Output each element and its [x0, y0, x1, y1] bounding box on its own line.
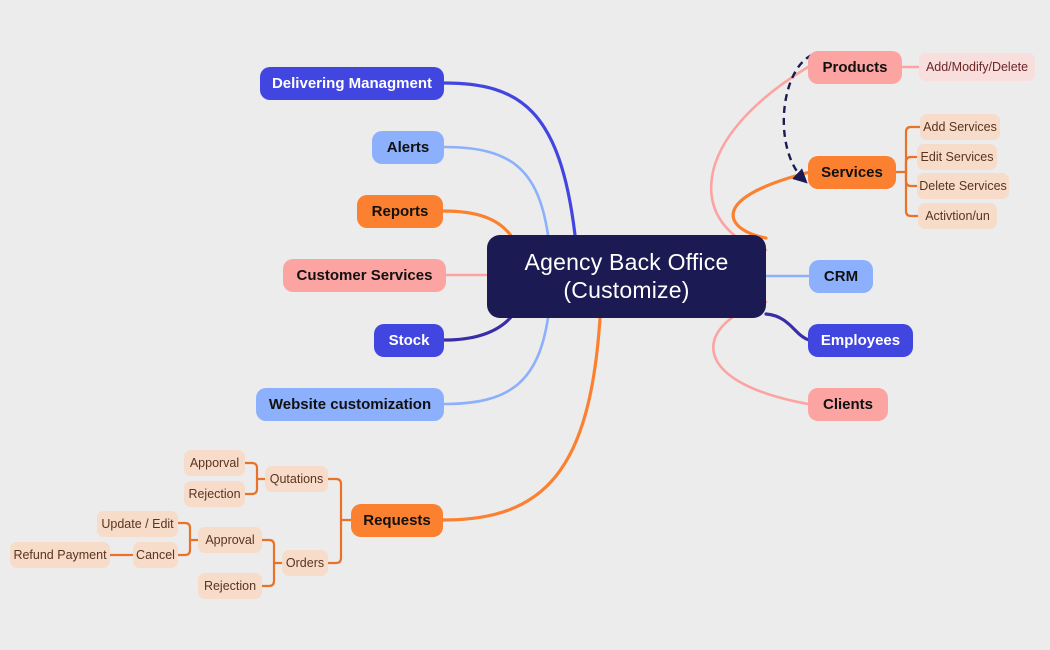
edge-employees [766, 314, 809, 340]
edge-services-delete [906, 172, 917, 186]
subnode-qutations-apporval[interactable]: Apporval [184, 450, 245, 476]
subnode-label: Add/Modify/Delete [926, 60, 1028, 75]
subnode-label: Refund Payment [13, 548, 106, 563]
node-label: Customer Services [297, 267, 433, 285]
subnode-delete-services[interactable]: Delete Services [917, 173, 1009, 199]
subnode-orders-rejection[interactable]: Rejection [198, 573, 262, 599]
root-title-line1: Agency Back Office [525, 249, 729, 276]
node-label: Clients [823, 396, 873, 414]
edge-orders-approval [262, 540, 274, 563]
subnode-label: Apporval [190, 456, 239, 471]
subnode-orders[interactable]: Orders [282, 550, 328, 576]
root-title-line2: (Customize) [563, 277, 689, 304]
edge-requests-orders [328, 520, 341, 563]
subnode-cancel[interactable]: Cancel [133, 542, 178, 568]
edge-requests [443, 318, 600, 520]
node-requests[interactable]: Requests [351, 504, 443, 537]
subnode-activation-un[interactable]: Activtion/un [918, 203, 997, 229]
node-label: Stock [389, 332, 430, 350]
node-delivering-managment[interactable]: Delivering Managment [260, 67, 444, 100]
root-node[interactable]: Agency Back Office (Customize) [487, 235, 766, 318]
subnode-refund-payment[interactable]: Refund Payment [10, 542, 110, 568]
subnode-label: Activtion/un [925, 209, 990, 224]
node-label: Requests [363, 512, 431, 530]
node-employees[interactable]: Employees [808, 324, 913, 357]
node-label: Alerts [387, 139, 430, 157]
edge-stock [444, 316, 512, 340]
subnode-label: Approval [205, 533, 254, 548]
node-crm[interactable]: CRM [809, 260, 873, 293]
node-label: Delivering Managment [272, 75, 432, 93]
subnode-edit-services[interactable]: Edit Services [917, 144, 997, 170]
node-alerts[interactable]: Alerts [372, 131, 444, 164]
edge-delivering-managment [444, 83, 575, 235]
edge-approval-cancel [178, 540, 190, 555]
subnode-label: Edit Services [921, 150, 994, 165]
edge-services [733, 172, 810, 238]
edge-orders-rejection [262, 563, 274, 586]
node-customer-services[interactable]: Customer Services [283, 259, 446, 292]
subnode-label: Qutations [270, 472, 324, 487]
node-label: Website customization [269, 396, 431, 414]
subnode-add-services[interactable]: Add Services [920, 114, 1000, 140]
node-label: Products [822, 59, 887, 77]
edge-services-edit [906, 157, 917, 172]
node-stock[interactable]: Stock [374, 324, 444, 357]
subnode-orders-approval[interactable]: Approval [198, 527, 262, 553]
subnode-label: Add Services [923, 120, 997, 135]
node-label: Services [821, 164, 883, 182]
subnode-label: Delete Services [919, 179, 1007, 194]
node-website-customization[interactable]: Website customization [256, 388, 444, 421]
node-services[interactable]: Services [808, 156, 896, 189]
subnode-label: Cancel [136, 548, 175, 563]
edge-website-customization [444, 318, 548, 404]
edge-requests-qutations [328, 479, 341, 520]
node-reports[interactable]: Reports [357, 195, 443, 228]
mindmap-canvas: Agency Back Office (Customize) Deliverin… [0, 0, 1050, 650]
subnode-label: Rejection [204, 579, 256, 594]
subnode-label: Orders [286, 556, 324, 571]
subnode-update-edit[interactable]: Update / Edit [97, 511, 178, 537]
node-label: CRM [824, 268, 858, 286]
node-clients[interactable]: Clients [808, 388, 888, 421]
edge-qutations-rejection [245, 479, 257, 494]
subnode-label: Update / Edit [101, 517, 173, 532]
edge-qutations-apporval [245, 463, 257, 479]
subnode-label: Rejection [188, 487, 240, 502]
subnode-qutations-rejection[interactable]: Rejection [184, 481, 245, 507]
node-label: Reports [372, 203, 429, 221]
edge-alerts [444, 147, 548, 235]
subnode-add-modify-delete[interactable]: Add/Modify/Delete [919, 53, 1035, 81]
subnode-qutations[interactable]: Qutations [265, 466, 328, 492]
node-products[interactable]: Products [808, 51, 902, 84]
edge-reports [443, 211, 512, 237]
node-label: Employees [821, 332, 900, 350]
edge-approval-update-edit [178, 523, 190, 540]
edge-products [711, 67, 808, 250]
